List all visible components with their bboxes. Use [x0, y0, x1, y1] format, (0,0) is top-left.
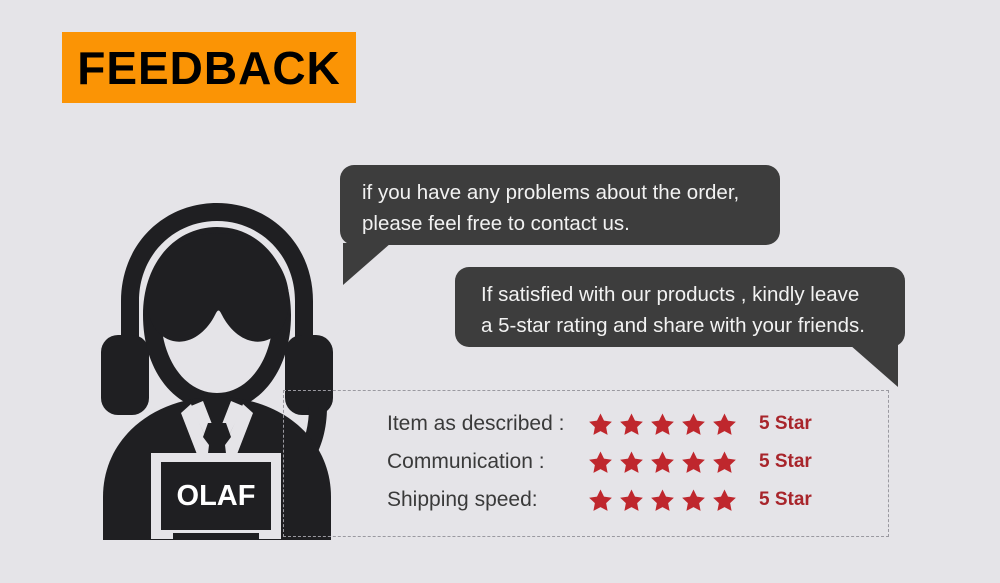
rating-row: Shipping speed: 5 Star: [387, 481, 857, 519]
rating-stars-communication: [587, 449, 759, 476]
ratings-panel: Item as described : 5 Star Communication…: [283, 390, 889, 537]
rating-stars-item-as-described: [587, 411, 759, 438]
star-icon: [649, 487, 676, 514]
speech-bubble-rating-request-text: If satisfied with our products , kindly …: [481, 279, 887, 341]
rating-row: Item as described : 5 Star: [387, 405, 857, 443]
rating-label-communication: Communication :: [387, 450, 587, 474]
star-icon: [587, 487, 614, 514]
star-icon: [680, 449, 707, 476]
rating-value-shipping-speed: 5 Star: [759, 489, 812, 511]
star-icon: [680, 487, 707, 514]
star-icon: [618, 487, 645, 514]
rating-stars-shipping-speed: [587, 487, 759, 514]
speech-bubble-order-help-text: if you have any problems about the order…: [362, 177, 760, 239]
star-icon: [618, 411, 645, 438]
rating-row: Communication : 5 Star: [387, 443, 857, 481]
star-icon: [618, 449, 645, 476]
rating-value-communication: 5 Star: [759, 451, 812, 473]
agent-screen-label: OLAF: [177, 480, 256, 512]
speech-bubble-rating-request-tail: [850, 345, 898, 387]
speech-bubble-order-help-tail: [343, 243, 391, 285]
star-icon: [587, 449, 614, 476]
rating-label-shipping-speed: Shipping speed:: [387, 488, 587, 512]
star-icon: [711, 487, 738, 514]
speech-bubble-order-help: if you have any problems about the order…: [340, 165, 780, 245]
star-icon: [649, 411, 676, 438]
star-icon: [711, 411, 738, 438]
feedback-banner: FEEDBACK: [62, 32, 356, 103]
star-icon: [680, 411, 707, 438]
rating-label-item-as-described: Item as described :: [387, 412, 587, 436]
ratings-list: Item as described : 5 Star Communication…: [387, 405, 857, 519]
feedback-banner-page: FEEDBACK: [0, 0, 1000, 583]
star-icon: [711, 449, 738, 476]
speech-bubble-rating-request: If satisfied with our products , kindly …: [455, 267, 905, 347]
star-icon: [587, 411, 614, 438]
rating-value-item-as-described: 5 Star: [759, 413, 812, 435]
page-title: FEEDBACK: [77, 45, 341, 91]
star-icon: [649, 449, 676, 476]
